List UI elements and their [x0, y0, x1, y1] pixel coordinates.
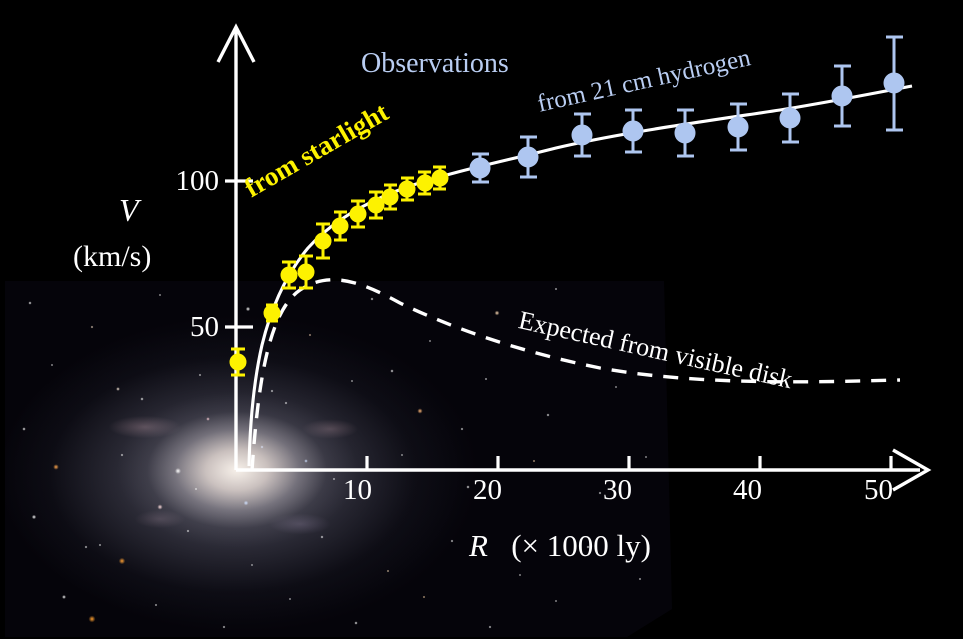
expected-disk-curve [252, 280, 900, 470]
data-point-errorbar [675, 110, 695, 156]
data-point-errorbar [728, 104, 748, 150]
x-tick-label-30: 30 [603, 474, 632, 507]
data-point-errorbar [470, 154, 490, 182]
data-point-errorbar [264, 305, 280, 321]
data-point-errorbar [230, 349, 246, 375]
y-tick-label-100: 100 [163, 165, 219, 198]
x-axis [236, 450, 928, 490]
data-point-errorbar [623, 110, 643, 152]
y-axis-title-symbol: V [119, 192, 139, 229]
data-point-errorbar [432, 167, 448, 189]
rotation-curve-figure: Observations from starlight from 21 cm h… [0, 0, 963, 639]
data-point-errorbar [832, 66, 852, 126]
y-axis [218, 27, 254, 470]
x-axis-title: R (× 1000 ly) [469, 528, 651, 564]
data-point-errorbar [399, 178, 415, 200]
data-point-errorbar [417, 172, 433, 194]
data-point-errorbar [572, 114, 592, 156]
data-point-errorbar [518, 137, 538, 177]
x-axis-title-spacer [496, 528, 504, 563]
y-tick-label-50: 50 [180, 311, 219, 344]
x-tick-label-10: 10 [343, 474, 372, 507]
data-point-errorbar [884, 37, 904, 130]
x-axis-title-unit: (× 1000 ly) [511, 528, 651, 563]
data-point-errorbar [780, 94, 800, 142]
data-point-errorbar [298, 256, 314, 288]
x-axis-title-symbol: R [469, 528, 488, 563]
y-axis-ticks [225, 181, 253, 327]
x-tick-label-50: 50 [864, 474, 893, 507]
annotation-observations: Observations [361, 48, 509, 80]
x-axis-ticks [367, 456, 891, 470]
y-axis-title-unit: (km/s) [73, 240, 151, 274]
x-tick-label-40: 40 [733, 474, 762, 507]
x-tick-label-20: 20 [473, 474, 502, 507]
